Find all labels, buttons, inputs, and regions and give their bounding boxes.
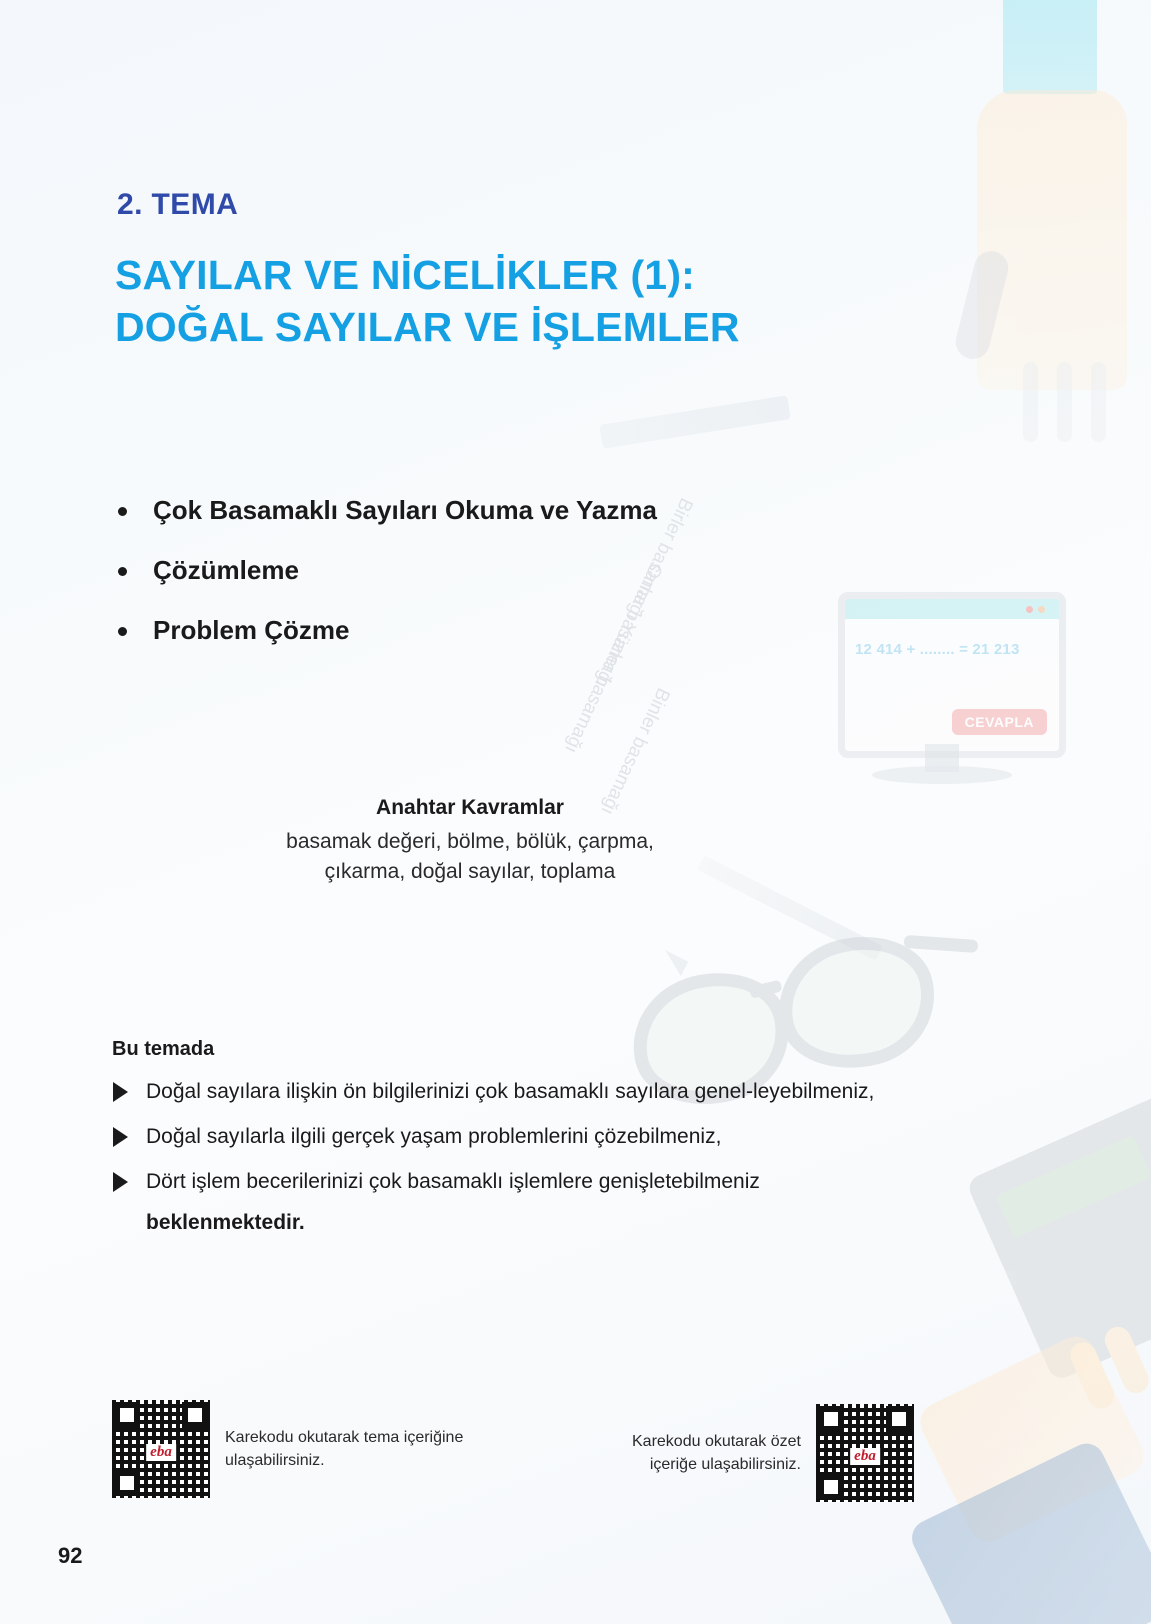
textbook-page: 12 414 + ........ = 21 213 CEVAPLA Birle… xyxy=(0,0,1151,1624)
qr-block-theme[interactable]: eba Karekodu okutarak tema içeriğine ula… xyxy=(112,1400,463,1498)
keywords-heading: Anahtar Kavramlar xyxy=(150,796,790,820)
list-item: Problem Çözme xyxy=(110,615,870,646)
outcome-text: Dört işlem becerilerinizi çok basamaklı … xyxy=(146,1166,760,1198)
theme-number: 2. TEMA xyxy=(117,188,238,222)
qr-caption-line: Karekodu okutarak özet xyxy=(632,1430,801,1453)
outcomes-block: Bu temada Doğal sayılara ilişkin ön bilg… xyxy=(112,1038,942,1235)
triangle-bullet-icon xyxy=(113,1172,128,1192)
qr-caption-line: Karekodu okutarak tema içeriğine xyxy=(225,1426,463,1449)
eba-logo: eba xyxy=(146,1444,176,1461)
qr-caption: Karekodu okutarak tema içeriğine ulaşabi… xyxy=(225,1426,463,1472)
topic-list: Çok Basamaklı Sayıları Okuma ve Yazma Çö… xyxy=(110,495,870,676)
list-item: Doğal sayılara ilişkin ön bilgilerinizi … xyxy=(112,1076,942,1108)
triangle-bullet-icon xyxy=(113,1127,128,1147)
page-title: SAYILAR VE NİCELİKLER (1): DOĞAL SAYILAR… xyxy=(115,250,945,353)
outcomes-heading: Bu temada xyxy=(112,1038,942,1061)
outcomes-closing: beklenmektedir. xyxy=(146,1211,942,1235)
qr-corner-icon xyxy=(114,1470,140,1496)
topic-label: Çözümleme xyxy=(153,555,299,586)
keywords-block: Anahtar Kavramlar basamak değeri, bölme,… xyxy=(150,796,790,888)
topic-label: Çok Basamaklı Sayıları Okuma ve Yazma xyxy=(153,495,657,526)
bullet-icon xyxy=(118,567,127,576)
bullet-icon xyxy=(118,507,127,516)
triangle-bullet-icon xyxy=(113,1082,128,1102)
list-item: Doğal sayılarla ilgili gerçek yaşam prob… xyxy=(112,1121,942,1153)
keywords-line: basamak değeri, bölme, bölük, çarpma, xyxy=(150,827,790,857)
outcome-text: Doğal sayılarla ilgili gerçek yaşam prob… xyxy=(146,1121,721,1153)
qr-corner-icon xyxy=(818,1474,844,1500)
topic-label: Problem Çözme xyxy=(153,615,350,646)
qr-caption: Karekodu okutarak özet içeriğe ulaşabili… xyxy=(632,1430,801,1476)
page-title-line-1: SAYILAR VE NİCELİKLER (1): xyxy=(115,250,945,302)
page-title-line-2: DOĞAL SAYILAR VE İŞLEMLER xyxy=(115,302,945,354)
outcome-text: Doğal sayılara ilişkin ön bilgilerinizi … xyxy=(146,1076,874,1108)
page-number: 92 xyxy=(58,1543,82,1569)
qr-caption-line: ulaşabilirsiniz. xyxy=(225,1449,463,1472)
list-item: Çok Basamaklı Sayıları Okuma ve Yazma xyxy=(110,495,870,526)
qr-caption-line: içeriğe ulaşabilirsiniz. xyxy=(632,1453,801,1476)
keywords-line: çıkarma, doğal sayılar, toplama xyxy=(150,857,790,887)
list-item: Dört işlem becerilerinizi çok basamaklı … xyxy=(112,1166,942,1198)
list-item: Çözümleme xyxy=(110,555,870,586)
bullet-icon xyxy=(118,627,127,636)
qr-block-summary[interactable]: eba Karekodu okutarak özet içeriğe ulaşa… xyxy=(632,1404,914,1502)
eba-logo: eba xyxy=(850,1448,880,1465)
qr-code-icon[interactable]: eba xyxy=(112,1400,210,1498)
qr-code-icon[interactable]: eba xyxy=(816,1404,914,1502)
